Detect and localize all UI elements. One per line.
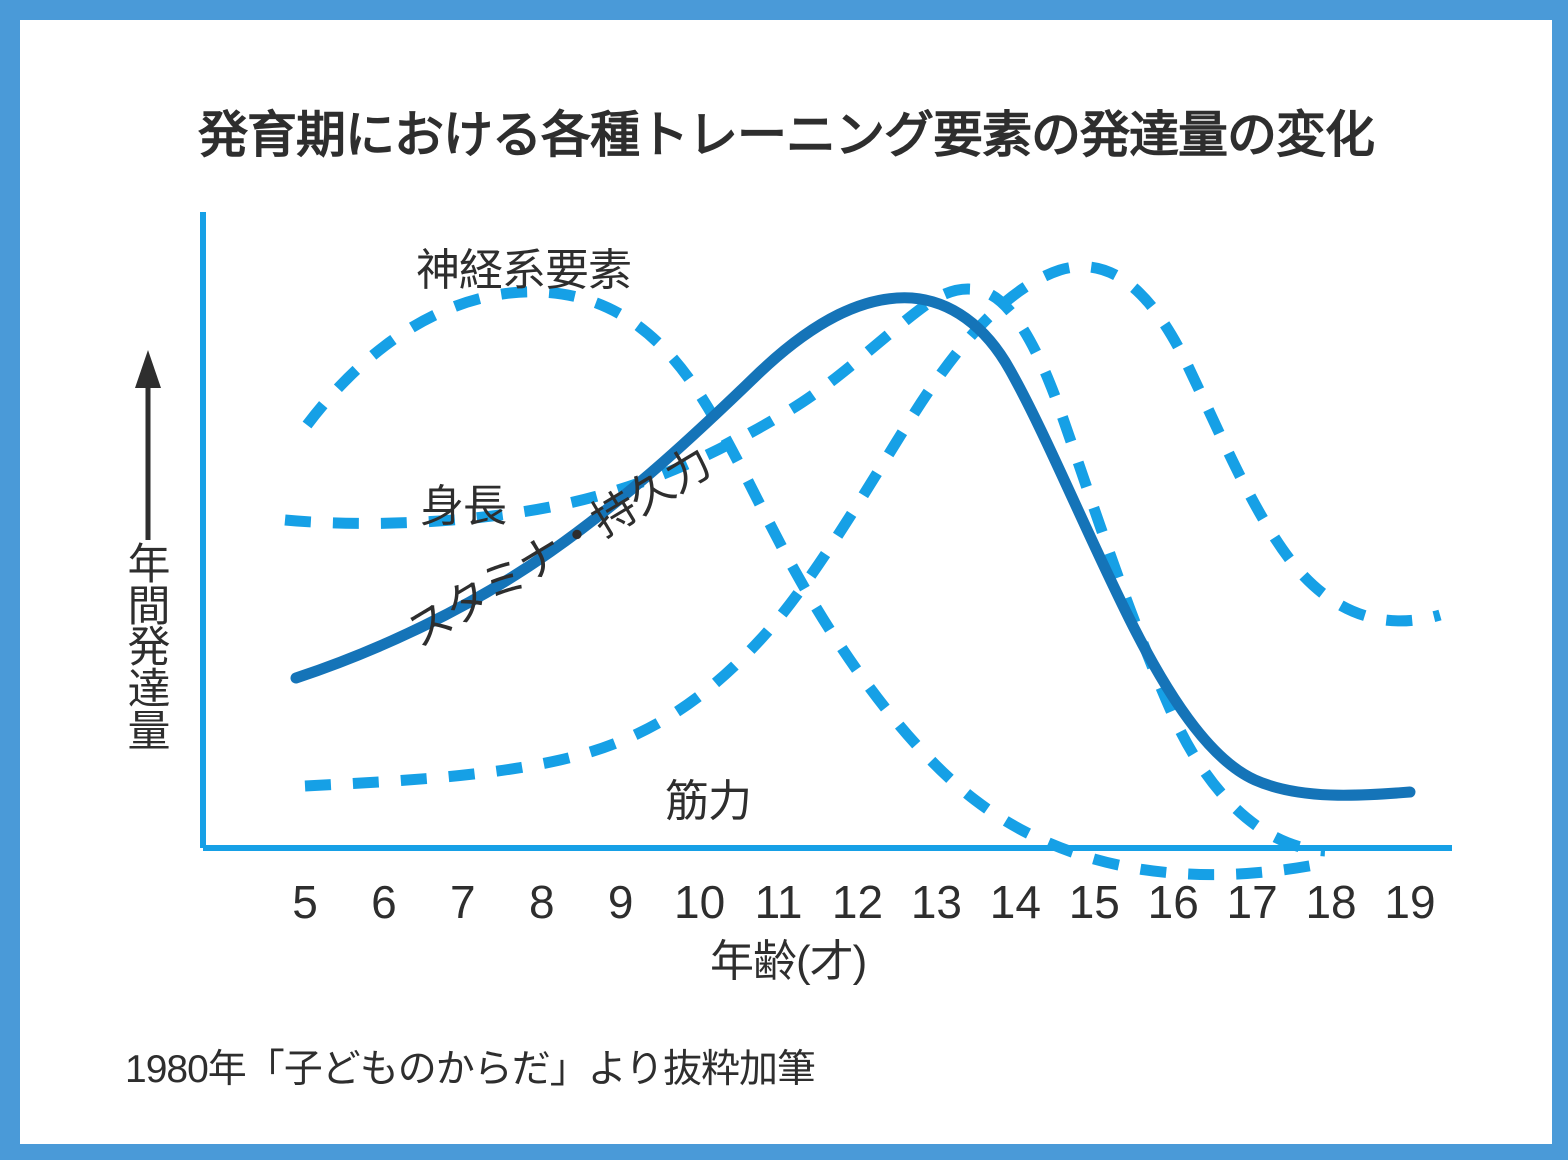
x-axis-tick-10: 10 [670, 875, 730, 929]
x-axis-tick-8: 8 [512, 875, 572, 929]
curve-stamina [296, 298, 1410, 796]
series-label-height: 身長 [420, 470, 506, 534]
x-axis-tick-5: 5 [275, 875, 335, 929]
x-axis-tick-6: 6 [354, 875, 414, 929]
x-axis-tick-13: 13 [906, 875, 966, 929]
series-label-strength: 筋力 [665, 765, 751, 829]
x-axis-tick-14: 14 [985, 875, 1045, 929]
x-axis-tick-11: 11 [749, 875, 809, 929]
x-axis-tick-19: 19 [1380, 875, 1440, 929]
x-axis-tick-9: 9 [591, 875, 651, 929]
x-axis-tick-15: 15 [1064, 875, 1124, 929]
y-axis-arrow-icon [135, 350, 161, 540]
y-axis-title: 年間発達量 [125, 545, 173, 754]
series-label-nerve: 神経系要素 [416, 234, 631, 298]
x-axis-tick-7: 7 [433, 875, 493, 929]
x-axis-title: 年齢(才) [710, 925, 866, 989]
figure-canvas: 発育期における各種トレーニング要素の発達量の変化 神経系要素 身長 [20, 20, 1552, 1144]
x-axis-tick-16: 16 [1143, 875, 1203, 929]
curve-height [285, 289, 1325, 851]
x-axis-tick-17: 17 [1222, 875, 1282, 929]
figure-frame: 発育期における各種トレーニング要素の発達量の変化 神経系要素 身長 [0, 0, 1568, 1160]
axis-lines [203, 212, 1452, 848]
x-axis-tick-12: 12 [828, 875, 888, 929]
x-axis-tick-18: 18 [1301, 875, 1361, 929]
source-note: 1980年「子どものからだ」より抜粋加筆 [125, 1038, 815, 1094]
